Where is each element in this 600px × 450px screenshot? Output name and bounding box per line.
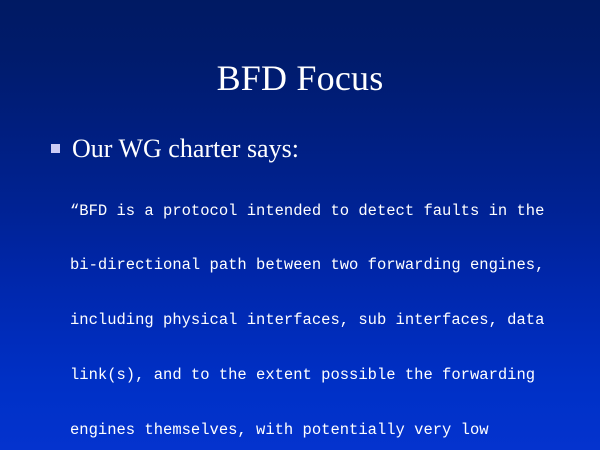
quote-line: engines themselves, with potentially ver…	[70, 421, 570, 439]
quote-line: bi-directional path between two forwardi…	[70, 256, 570, 274]
quote-line: including physical interfaces, sub inter…	[70, 311, 570, 329]
page-title: BFD Focus	[0, 57, 600, 99]
square-bullet-icon	[51, 144, 60, 153]
quote-line: “BFD is a protocol intended to detect fa…	[70, 202, 570, 220]
slide-body: Our WG charter says: “BFD is a protocol …	[48, 133, 578, 165]
presentation-slide: BFD Focus Our WG charter says: “BFD is a…	[0, 0, 600, 450]
bullet-item: Our WG charter says:	[48, 133, 578, 165]
bullet-item-label: Our WG charter says:	[72, 133, 299, 164]
quote-line: link(s), and to the extent possible the …	[70, 366, 570, 384]
charter-quote: “BFD is a protocol intended to detect fa…	[70, 165, 570, 450]
